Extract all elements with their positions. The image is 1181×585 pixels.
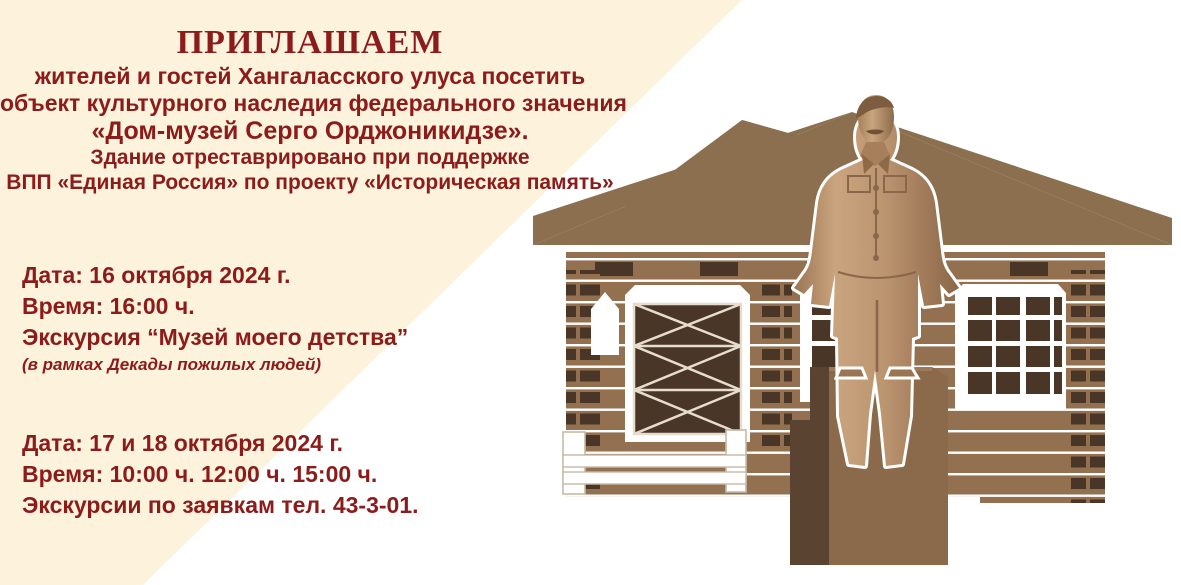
- intro-line-3: «Дом-музей Серго Орджоникидзе».: [0, 117, 620, 146]
- poster-canvas: ПРИГЛАШАЕМ жителей и гостей Хангаласског…: [0, 0, 1181, 585]
- event-two-date: Дата: 17 и 18 октября 2024 г.: [22, 428, 419, 459]
- event-one-time: Время: 16:00 ч.: [22, 291, 408, 322]
- intro-line-5: ВПП «Единая Россия» по проекту «Историче…: [0, 171, 620, 195]
- event-one-tour: Экскурсия “Музей моего детства”: [22, 322, 408, 353]
- intro-line-1: жителей и гостей Хангаласского улуса пос…: [0, 63, 620, 90]
- intro-line-4: Здание отреставрировано при поддержке: [0, 146, 620, 170]
- page-title: ПРИГЛАШАЕМ: [0, 24, 620, 62]
- event-one-date: Дата: 16 октября 2024 г.: [22, 260, 408, 291]
- event-two-time: Время: 10:00 ч. 12:00 ч. 15:00 ч.: [22, 459, 419, 490]
- event-block-second: Дата: 17 и 18 октября 2024 г. Время: 10:…: [22, 428, 419, 521]
- text-column: ПРИГЛАШАЕМ жителей и гостей Хангаласског…: [0, 0, 620, 585]
- intro-line-2: объект культурного наследия федерального…: [0, 90, 620, 117]
- event-two-booking: Экскурсии по заявкам тел. 43-3-01.: [22, 490, 419, 521]
- event-block-first: Дата: 16 октября 2024 г. Время: 16:00 ч.…: [22, 260, 408, 377]
- window-right: [955, 284, 1066, 410]
- entry-door: [625, 285, 750, 442]
- event-one-note: (в рамках Декады пожилых людей): [22, 353, 408, 377]
